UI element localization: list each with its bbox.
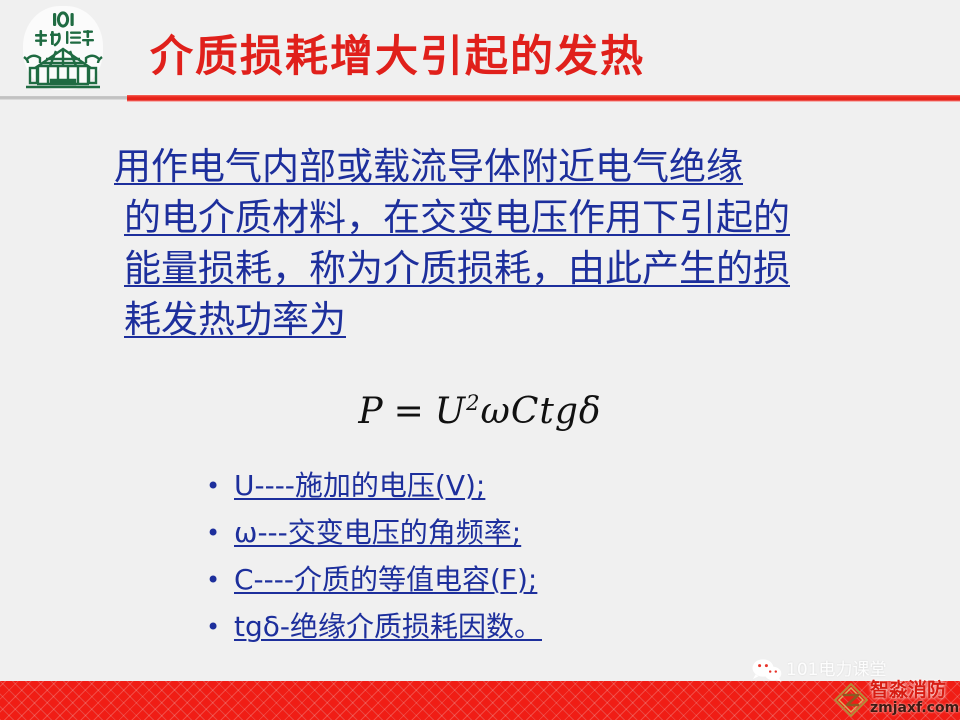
bullet-marker-icon: • xyxy=(206,607,234,647)
formula-block: P=U2ωCtgδ xyxy=(0,380,960,435)
101-power-classroom-logo-icon xyxy=(18,4,108,94)
formula-base: U xyxy=(435,391,466,432)
list-item: • U----施加的电压(V); xyxy=(206,466,906,513)
paragraph-line: 用作电气内部或载流导体附近电气绝缘 xyxy=(100,141,900,192)
brand-url: zmjaxf.com xyxy=(870,700,959,716)
formula-rest: ωCtgδ xyxy=(481,391,602,432)
slide-header: 介质损耗增大引起的发热 xyxy=(0,0,960,104)
list-item: • tgδ-绝缘介质损耗因数。 xyxy=(206,607,906,654)
paragraph-line: 能量损耗，称为介质损耗，由此产生的损 xyxy=(100,243,900,294)
logo-artwork xyxy=(18,4,108,94)
brand-logo: 智淼消防 zmjaxf.com xyxy=(834,679,960,720)
paragraph-line: 的电介质材料，在交变电压作用下引起的 xyxy=(100,192,900,243)
zhimiao-shield-icon xyxy=(834,683,868,717)
list-item-label: U----施加的电压(V); xyxy=(234,466,485,506)
formula-exponent: 2 xyxy=(466,391,480,415)
header-rule-red xyxy=(127,94,960,102)
list-item: • ω---交变电压的角频率; xyxy=(206,513,906,560)
formula-equals: = xyxy=(394,391,425,432)
bullet-marker-icon: • xyxy=(206,466,234,506)
bullet-list: • U----施加的电压(V); • ω---交变电压的角频率; • C----… xyxy=(206,466,906,654)
body-paragraph: 用作电气内部或载流导体附近电气绝缘 的电介质材料，在交变电压作用下引起的 能量损… xyxy=(100,141,900,345)
bullet-marker-icon: • xyxy=(206,513,234,553)
brand-name: 智淼消防 xyxy=(870,680,946,701)
bullet-marker-icon: • xyxy=(206,560,234,600)
list-item-label: ω---交变电压的角频率; xyxy=(234,513,521,553)
list-item: • C----介质的等值电容(F); xyxy=(206,560,906,607)
watermark: 101电力课堂 智淼消防 zmjaxf.com xyxy=(752,655,960,720)
header-rule-grey xyxy=(0,96,128,100)
page-title: 介质损耗增大引起的发热 xyxy=(150,28,950,90)
paragraph-line: 耗发热功率为 xyxy=(100,294,900,345)
wechat-icon xyxy=(752,657,782,683)
slide-canvas: 介质损耗增大引起的发热 用作电气内部或载流导体附近电气绝缘 的电介质材料，在交变… xyxy=(0,0,960,720)
formula-lhs: P xyxy=(358,391,383,432)
list-item-label: tgδ-绝缘介质损耗因数。 xyxy=(234,607,542,647)
list-item-label: C----介质的等值电容(F); xyxy=(234,560,537,600)
formula-expression: P=U2ωCtgδ xyxy=(358,391,601,432)
